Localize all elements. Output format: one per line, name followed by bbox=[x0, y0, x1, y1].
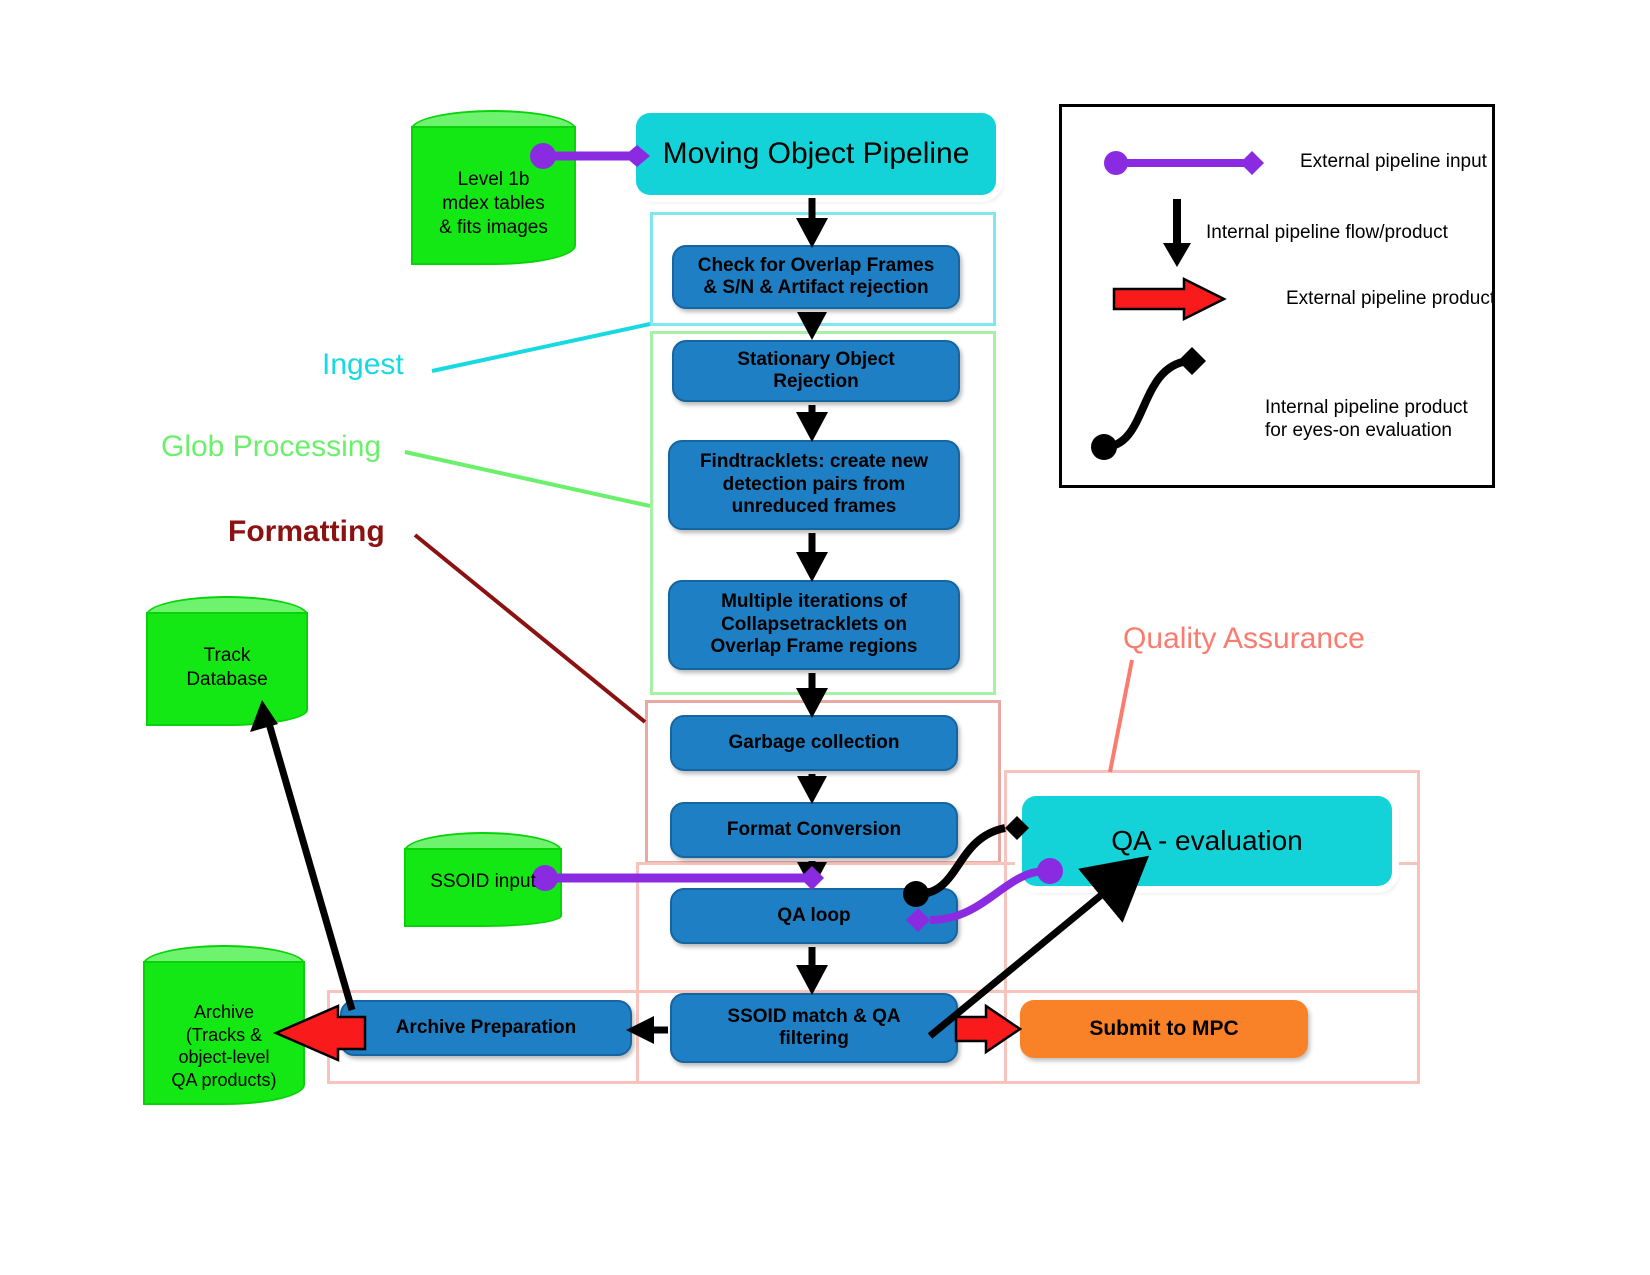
step-label: Archive Preparation bbox=[396, 1017, 577, 1039]
step-label: Stationary Object Rejection bbox=[737, 349, 894, 394]
stage-label-formatting: Formatting bbox=[228, 515, 385, 549]
legend-item-internal-eyes-on: Internal pipeline product for eyes-on ev… bbox=[1078, 335, 1468, 461]
database-archive-label: Archive (Tracks & object-level QA produc… bbox=[143, 1001, 305, 1091]
database-level1b: Level 1b mdex tables & fits images bbox=[411, 110, 576, 265]
step-label: Findtracklets: create new detection pair… bbox=[700, 451, 928, 518]
legend-label: Internal pipeline product for eyes-on ev… bbox=[1265, 397, 1468, 443]
step-ssoid-match-filtering[interactable]: SSOID match & QA filtering bbox=[670, 993, 958, 1063]
external-product-icon bbox=[1110, 275, 1230, 323]
legend-label: External pipeline product bbox=[1286, 288, 1495, 311]
step-qa-loop[interactable]: QA loop bbox=[670, 888, 958, 944]
legend-item-external-input: External pipeline input bbox=[1102, 145, 1487, 179]
step-label: QA loop bbox=[777, 905, 850, 927]
database-track-label: Track Database bbox=[146, 644, 308, 692]
legend-label: Internal pipeline flow/product bbox=[1206, 222, 1448, 245]
qa-evaluation-label: QA - evaluation bbox=[1111, 825, 1302, 857]
stage-label-quality-assurance: Quality Assurance bbox=[1123, 622, 1365, 656]
database-ssoid-label: SSOID input bbox=[404, 870, 562, 894]
internal-eyes-on-icon bbox=[1078, 335, 1253, 461]
step-format-conversion[interactable]: Format Conversion bbox=[670, 802, 958, 858]
pipeline-title-label: Moving Object Pipeline bbox=[663, 137, 970, 171]
qa-evaluation-box[interactable]: QA - evaluation bbox=[1022, 796, 1392, 886]
step-label: Multiple iterations of Collapsetracklets… bbox=[711, 591, 918, 658]
step-label: Format Conversion bbox=[727, 819, 901, 841]
database-level1b-label: Level 1b mdex tables & fits images bbox=[411, 168, 576, 239]
database-archive: Archive (Tracks & object-level QA produc… bbox=[143, 945, 305, 1105]
leader-qa bbox=[1110, 660, 1132, 772]
stage-label-ingest: Ingest bbox=[322, 348, 404, 382]
step-garbage-collection[interactable]: Garbage collection bbox=[670, 715, 958, 771]
external-input-icon bbox=[1102, 145, 1267, 179]
legend-item-internal-flow: Internal pipeline flow/product bbox=[1157, 195, 1448, 271]
database-track: Track Database bbox=[146, 596, 308, 726]
step-collapsetracklets[interactable]: Multiple iterations of Collapsetracklets… bbox=[668, 580, 960, 670]
database-ssoid-input: SSOID input bbox=[404, 832, 562, 927]
submit-to-mpc-label: Submit to MPC bbox=[1089, 1017, 1238, 1041]
stage-label-glob-processing: Glob Processing bbox=[161, 430, 381, 464]
step-archive-preparation[interactable]: Archive Preparation bbox=[340, 1000, 632, 1056]
leader-ingest bbox=[432, 324, 650, 371]
legend-label: External pipeline input bbox=[1300, 151, 1487, 174]
step-label: Garbage collection bbox=[728, 732, 899, 754]
internal-flow-icon bbox=[1157, 195, 1197, 271]
legend-box: External pipeline input Internal pipelin… bbox=[1059, 104, 1495, 488]
step-label: SSOID match & QA filtering bbox=[727, 1006, 900, 1051]
leader-formatting bbox=[415, 535, 645, 722]
diagram-canvas: Level 1b mdex tables & fits images Track… bbox=[0, 0, 1650, 1275]
step-findtracklets[interactable]: Findtracklets: create new detection pair… bbox=[668, 440, 960, 530]
legend-item-external-product: External pipeline product bbox=[1110, 275, 1495, 323]
step-stationary-object-rejection[interactable]: Stationary Object Rejection bbox=[672, 340, 960, 402]
step-label: Check for Overlap Frames & S/N & Artifac… bbox=[698, 255, 935, 300]
submit-to-mpc-box[interactable]: Submit to MPC bbox=[1020, 1000, 1308, 1058]
leader-glob bbox=[405, 452, 650, 506]
pipeline-title-box[interactable]: Moving Object Pipeline bbox=[636, 113, 996, 195]
step-check-overlap[interactable]: Check for Overlap Frames & S/N & Artifac… bbox=[672, 245, 960, 309]
